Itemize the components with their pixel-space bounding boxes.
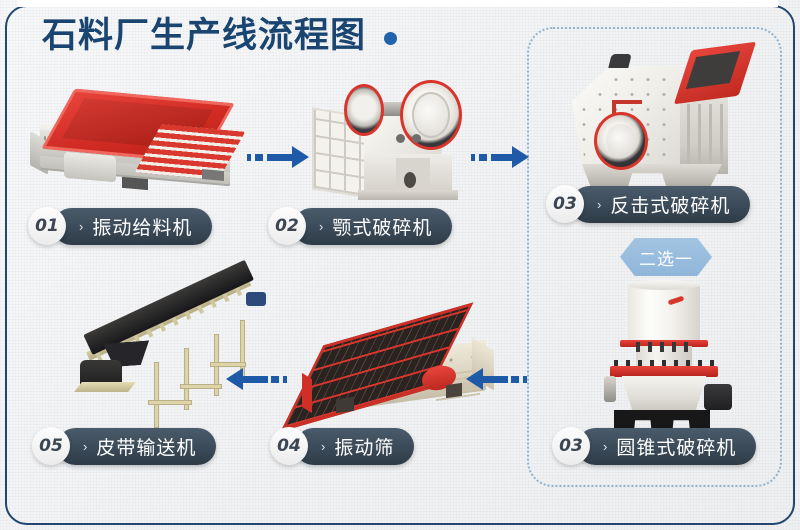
arrow-screen-to-belt (226, 368, 288, 390)
step-label-pill[interactable]: › 圆锥式破碎机 (577, 428, 756, 465)
step-number-badge: 03 (552, 427, 590, 465)
step-item-03-cone[interactable]: 03 › 圆锥式破碎机 (552, 427, 756, 465)
cone-crusher-image (592, 284, 742, 432)
step-number-badge: 02 (268, 207, 306, 245)
vibrating-feeder-image (26, 92, 246, 197)
step-number-badge: 03 (546, 185, 584, 223)
chevron-right-icon: › (79, 219, 84, 234)
impact-crusher-image (566, 46, 756, 194)
step-label-pill[interactable]: › 反击式破碎机 (571, 186, 750, 223)
poster-header: 石料厂生产线流程图 (42, 18, 397, 53)
chevron-right-icon: › (319, 219, 324, 234)
step-item-03-impact[interactable]: 03 › 反击式破碎机 (546, 185, 750, 223)
step-label-pill[interactable]: › 颚式破碎机 (293, 208, 452, 245)
step-label-text: 颚式破碎机 (332, 213, 432, 240)
step-item-04[interactable]: 04 › 振动筛 (270, 427, 414, 465)
frame-top-gap (18, 0, 778, 7)
chevron-right-icon: › (83, 439, 88, 454)
step-label-pill[interactable]: › 振动筛 (295, 428, 414, 465)
step-label-text: 振动筛 (334, 433, 394, 460)
step-number-badge: 05 (32, 427, 70, 465)
title-dot-icon (384, 32, 397, 45)
arrow-feeder-to-jaw (247, 146, 309, 168)
step-number-badge: 04 (270, 427, 308, 465)
chevron-right-icon: › (321, 439, 326, 454)
jaw-crusher-image (308, 72, 468, 200)
arrow-cone-to-screen (466, 368, 528, 390)
step-label-text: 振动给料机 (92, 213, 192, 240)
step-label-text: 圆锥式破碎机 (616, 433, 736, 460)
step-label-text: 皮带输送机 (96, 433, 196, 460)
choice-badge: 二选一 (620, 238, 712, 276)
chevron-right-icon: › (597, 197, 602, 212)
step-label-text: 反击式破碎机 (610, 191, 730, 218)
step-item-02[interactable]: 02 › 颚式破碎机 (268, 207, 452, 245)
step-item-05[interactable]: 05 › 皮带输送机 (32, 427, 216, 465)
chevron-right-icon: › (603, 439, 608, 454)
page-title: 石料厂生产线流程图 (42, 18, 366, 53)
step-label-pill[interactable]: › 振动给料机 (53, 208, 212, 245)
step-number-badge: 01 (28, 207, 66, 245)
flowchart-poster: 石料厂生产线流程图 (0, 0, 800, 530)
step-label-pill[interactable]: › 皮带输送机 (57, 428, 216, 465)
arrow-jaw-to-crusher (471, 146, 529, 168)
step-item-01[interactable]: 01 › 振动给料机 (28, 207, 212, 245)
belt-conveyor-image (88, 304, 284, 428)
